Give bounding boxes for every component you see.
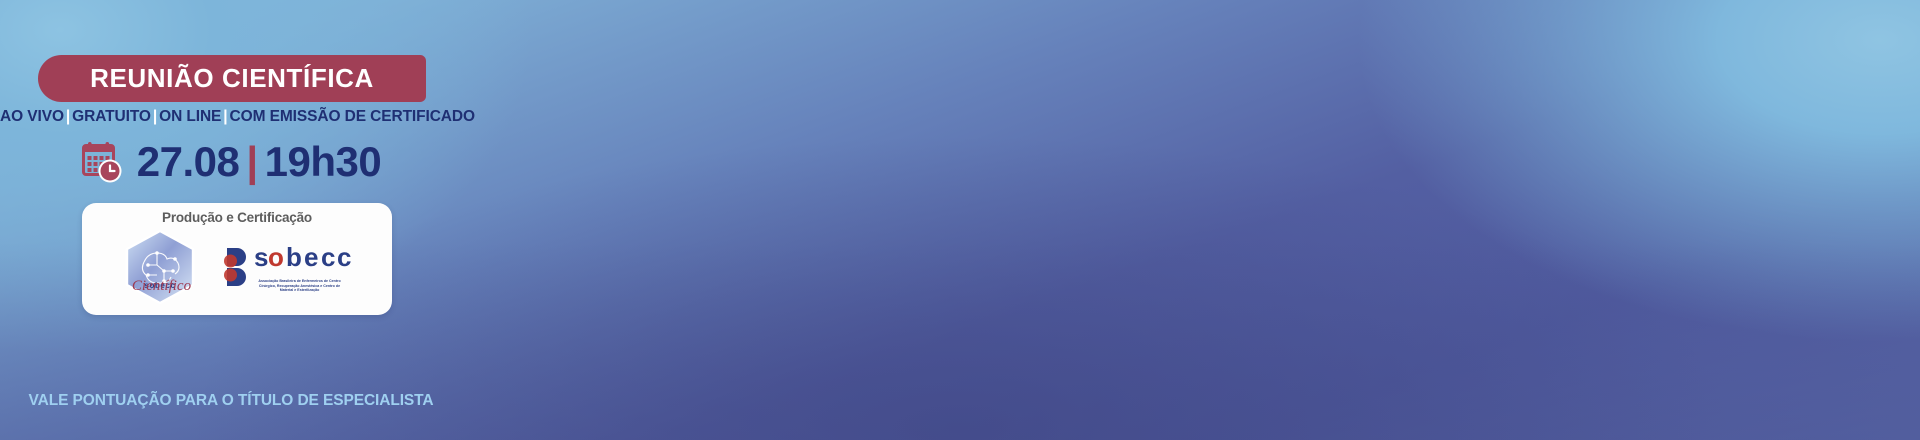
svg-text:s: s bbox=[254, 243, 268, 272]
event-type-label: REUNIÃO CIENTÍFICA bbox=[90, 63, 374, 94]
production-certification-title: Produção e Certificação bbox=[82, 210, 392, 225]
event-date: 27.08 bbox=[137, 138, 240, 185]
cientifico-hexagon-logo: sobecc Científico bbox=[117, 226, 203, 310]
svg-text:o: o bbox=[268, 243, 284, 272]
svg-text:b: b bbox=[286, 243, 302, 272]
datetime-text: 27.08|19h30 bbox=[137, 141, 381, 183]
sobecc-wordmark-group: s o b e c c Associação Brasileira de Enf… bbox=[254, 243, 358, 292]
production-certification-box: Produção e Certificação bbox=[82, 203, 392, 315]
tagline-separator-1: | bbox=[64, 108, 72, 125]
tagline-separator-3: | bbox=[221, 108, 229, 125]
cientifico-script-wordmark: Científico bbox=[120, 278, 204, 295]
tagline-item-certificado: COM EMISSÃO DE CERTIFICADO bbox=[230, 108, 475, 125]
svg-text:c: c bbox=[337, 243, 351, 272]
event-time: 19h30 bbox=[265, 138, 382, 185]
datetime-separator: | bbox=[239, 138, 264, 185]
logo-row: sobecc Científico s o bbox=[82, 226, 392, 310]
event-type-ribbon: REUNIÃO CIENTÍFICA bbox=[38, 55, 426, 102]
svg-text:c: c bbox=[321, 243, 335, 272]
tagline-item-ao-vivo: AO VIVO bbox=[0, 108, 64, 125]
sobecc-logo: s o b e c c Associação Brasileira de Enf… bbox=[223, 243, 358, 292]
webinar-banner: REUNIÃO CIENTÍFICA AO VIVO|GRATUITO|ON L… bbox=[0, 0, 1920, 440]
hexagon-circuit-brain-icon: sobecc bbox=[117, 226, 203, 310]
calendar-clock-icon bbox=[81, 140, 125, 184]
sobecc-mark-icon bbox=[223, 246, 249, 290]
sobecc-subtitle: Associação Brasileira de Enfermeiros de … bbox=[254, 279, 346, 292]
left-info-panel: REUNIÃO CIENTÍFICA AO VIVO|GRATUITO|ON L… bbox=[0, 0, 462, 440]
sobecc-wordmark: s o b e c c bbox=[254, 243, 358, 273]
tagline-item-on-line: ON LINE bbox=[159, 108, 221, 125]
tagline-separator-2: | bbox=[151, 108, 159, 125]
specialist-points-note: VALE PONTUAÇÃO PARA O TÍTULO DE ESPECIAL… bbox=[0, 392, 462, 410]
event-datetime: 27.08|19h30 bbox=[0, 140, 462, 184]
svg-text:e: e bbox=[304, 243, 318, 272]
event-tagline: AO VIVO|GRATUITO|ON LINE|COM EMISSÃO DE … bbox=[0, 108, 462, 126]
tagline-item-gratuito: GRATUITO bbox=[72, 108, 151, 125]
